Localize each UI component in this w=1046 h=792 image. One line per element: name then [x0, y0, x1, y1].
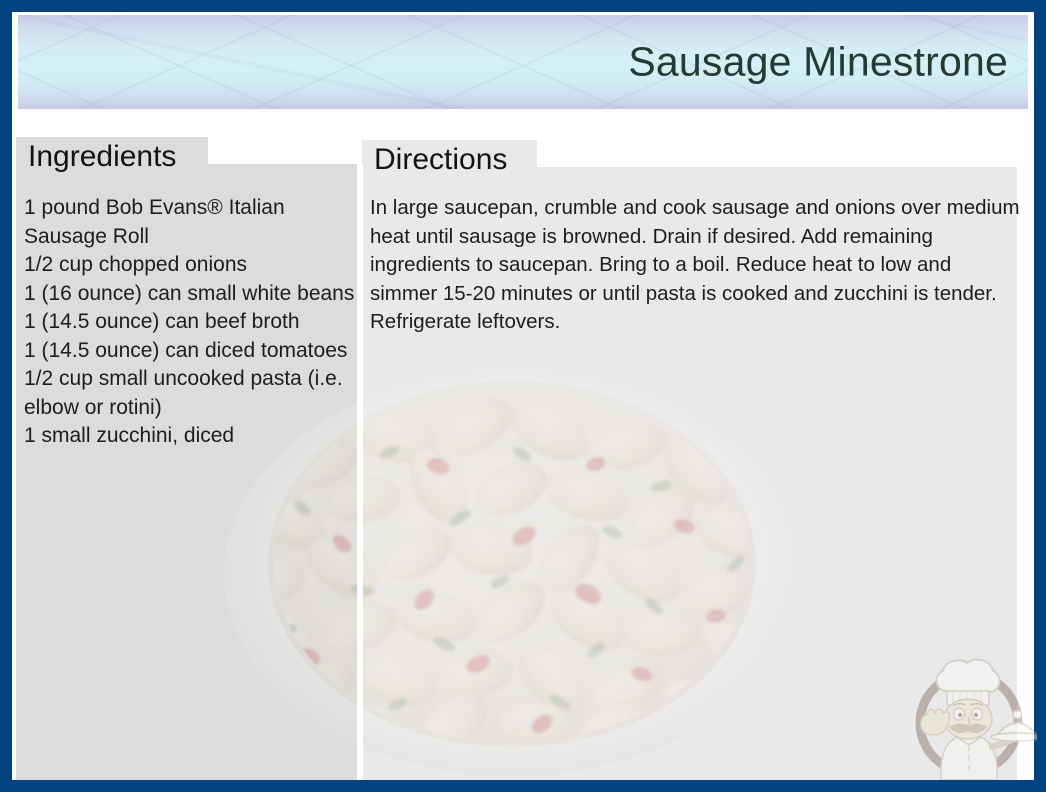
tab-directions-label: Directions — [374, 143, 507, 177]
slide-inner-area: Sausage Minestrone Ingredients Direction… — [12, 12, 1034, 780]
header-banner: Sausage Minestrone — [18, 15, 1028, 109]
directions-body: In large saucepan, crumble and cook saus… — [370, 194, 1020, 337]
ingredients-list: 1 pound Bob Evans® Italian Sausage Roll … — [24, 194, 362, 451]
tab-ingredients-label: Ingredients — [28, 140, 176, 174]
tab-directions[interactable]: Directions — [362, 140, 537, 180]
recipe-card-slide: Sausage Minestrone Ingredients Direction… — [0, 0, 1046, 792]
tab-ingredients[interactable]: Ingredients — [16, 137, 208, 177]
panel-divider — [357, 164, 363, 780]
page-title: Sausage Minestrone — [628, 39, 1008, 86]
